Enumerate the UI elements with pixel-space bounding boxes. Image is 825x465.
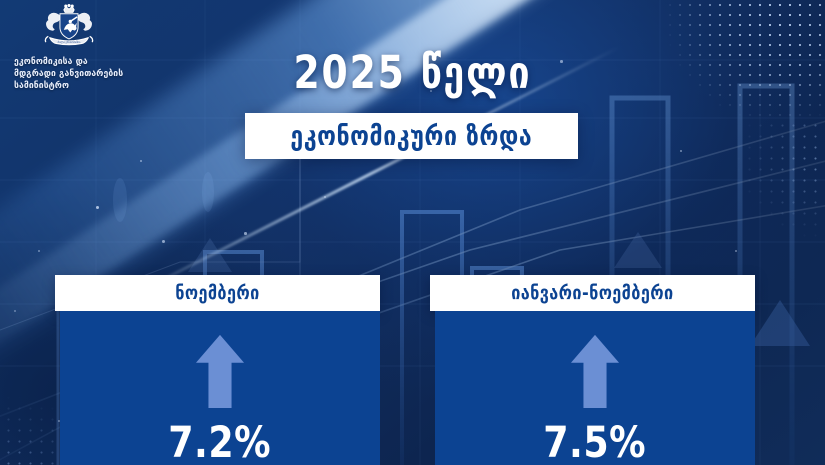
- halftone-dots-topright-icon: [535, 0, 825, 230]
- stat-card-value-january-november: 7.5%: [544, 422, 647, 465]
- stat-card-label-january-november: იანვარი-ნოემბერი: [511, 282, 673, 304]
- sparkle-icon: [140, 160, 142, 162]
- stat-card-value-november: 7.2%: [169, 422, 272, 465]
- arrow-up-icon: [194, 333, 246, 408]
- sparkle-icon: [38, 250, 40, 252]
- stat-card-november: ნოემბერი 7.2%: [55, 275, 380, 465]
- svg-text:ძალა ერთობაშია: ძალა ერთობაშია: [58, 40, 81, 44]
- stat-card-body-january-november: 7.5%: [435, 311, 755, 465]
- stat-card-body-november: 7.2%: [60, 311, 380, 465]
- georgia-coat-of-arms-icon: ძალა ერთობაშია: [30, 4, 108, 48]
- sparkle-icon: [324, 196, 326, 198]
- stat-card-header-january-november: იანვარი-ნოემბერი: [430, 275, 755, 311]
- infographic-poster: ძალა ერთობაშია ეკონომიკისა და მდგრადი გა…: [0, 0, 825, 465]
- sparkle-icon: [96, 206, 99, 209]
- subtitle-text: ეკონომიკური ზრდა: [291, 121, 533, 152]
- stat-card-header-november: ნოემბერი: [55, 275, 380, 311]
- sparkle-icon: [735, 250, 737, 252]
- sparkle-icon: [162, 240, 165, 243]
- subtitle-banner: ეკონომიკური ზრდა: [245, 113, 578, 159]
- arrow-up-icon: [569, 333, 621, 408]
- page-title: 2025 წელი: [29, 46, 796, 99]
- stat-card-january-november: იანვარი-ნოემბერი 7.5%: [430, 275, 755, 465]
- sparkle-icon: [14, 310, 16, 312]
- sparkle-icon: [244, 232, 247, 235]
- stat-card-label-november: ნოემბერი: [175, 282, 259, 304]
- sparkle-icon: [680, 150, 682, 152]
